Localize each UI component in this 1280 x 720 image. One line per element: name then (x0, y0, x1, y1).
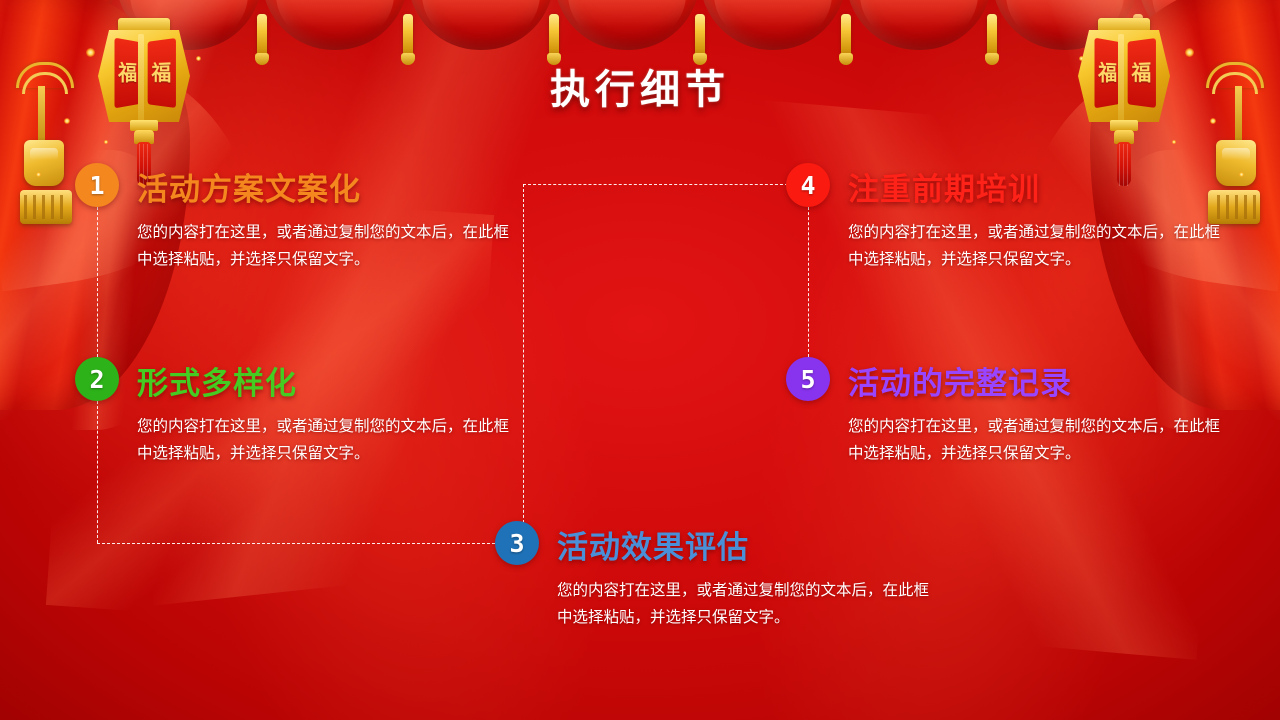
slide-canvas: 福 福 福 福 执行细节 1 活动方案文案化 您的内容打在这里，或者通过复制您的… (0, 0, 1280, 720)
item-number-badge-1: 1 (75, 163, 119, 207)
valance-tassel-icon (841, 14, 851, 58)
connector-line-4-5 (808, 207, 809, 357)
item-title-3: 活动效果评估 (557, 522, 749, 567)
curtain-valance (0, 0, 1280, 62)
valance-tassel-icon (403, 14, 413, 58)
item-number-badge-5: 5 (786, 357, 830, 401)
item-title-2: 形式多样化 (137, 358, 297, 403)
item-body-2: 您的内容打在这里，或者通过复制您的文本后，在此框中选择粘贴，并选择只保留文字。 (137, 413, 509, 466)
connector-line-to-3 (97, 543, 495, 544)
valance-tassel-icon (257, 14, 267, 58)
item-body-3: 您的内容打在这里，或者通过复制您的文本后，在此框中选择粘贴，并选择只保留文字。 (557, 577, 929, 630)
connector-line-2-down (97, 401, 98, 543)
connector-line-1-2 (97, 207, 98, 357)
item-body-4: 您的内容打在这里，或者通过复制您的文本后，在此框中选择粘贴，并选择只保留文字。 (848, 219, 1220, 272)
valance-tassel-icon (695, 14, 705, 58)
item-title-4: 注重前期培训 (848, 164, 1040, 209)
valance-tassel-icon (111, 14, 121, 58)
item-body-1: 您的内容打在这里，或者通过复制您的文本后，在此框中选择粘贴，并选择只保留文字。 (137, 219, 509, 272)
item-title-5: 活动的完整记录 (848, 358, 1072, 403)
item-number-badge-4: 4 (786, 163, 830, 207)
page-title: 执行细节 (0, 57, 1280, 115)
connector-line-to-4 (523, 184, 788, 185)
valance-tassel-icon (987, 14, 997, 58)
connector-line-3-up (523, 184, 524, 543)
item-number-badge-2: 2 (75, 357, 119, 401)
valance-tassel-icon (1133, 14, 1143, 58)
item-body-5: 您的内容打在这里，或者通过复制您的文本后，在此框中选择粘贴，并选择只保留文字。 (848, 413, 1220, 466)
item-title-1: 活动方案文案化 (137, 164, 361, 209)
valance-tassel-icon (549, 14, 559, 58)
item-number-badge-3: 3 (495, 521, 539, 565)
